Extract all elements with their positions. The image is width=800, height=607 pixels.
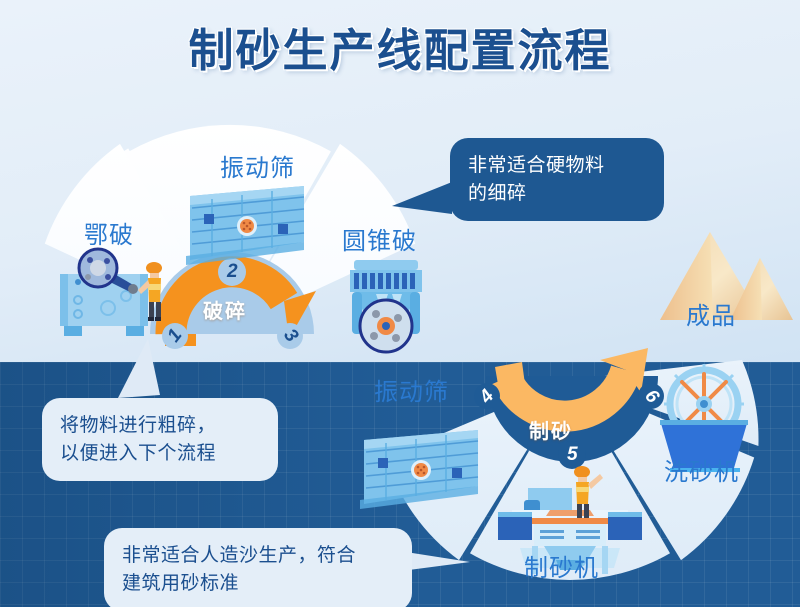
callout-line: 非常适合人造沙生产，符合 (122, 542, 394, 570)
callout-line: 将物料进行粗碎， (60, 412, 260, 440)
callout-line: 的细碎 (468, 180, 646, 208)
label-sand-washer: 洗砂机 (664, 452, 739, 487)
label-vibrating-screen-lower: 振动筛 (374, 372, 449, 407)
stage-two-arc-label: 制砂 (529, 415, 573, 444)
label-sand-maker: 制砂机 (524, 548, 599, 583)
callout-line: 建筑用砂标准 (122, 570, 394, 598)
label-vibrating-screen-upper: 振动筛 (220, 148, 295, 183)
label-finished-product: 成品 (686, 296, 736, 331)
step-number-5: 5 (567, 444, 578, 466)
stage-one-arc-label: 破碎 (203, 295, 247, 324)
callout-jaw-crusher-note: 将物料进行粗碎， 以便进入下个流程 (42, 398, 278, 481)
callout-cone-crusher-note: 非常适合硬物料 的细碎 (450, 138, 664, 221)
callout-line: 非常适合硬物料 (468, 152, 646, 180)
step-number-2: 2 (227, 261, 238, 283)
page-title: 制砂生产线配置流程 (0, 14, 800, 79)
label-cone-crusher: 圆锥破 (342, 221, 417, 256)
callout-line: 以便进入下个流程 (60, 440, 260, 468)
infographic-canvas: 制砂生产线配置流程 (0, 0, 800, 607)
label-jaw-crusher: 鄂破 (84, 215, 134, 250)
callout-sand-maker-note: 非常适合人造沙生产，符合 建筑用砂标准 (104, 528, 412, 607)
